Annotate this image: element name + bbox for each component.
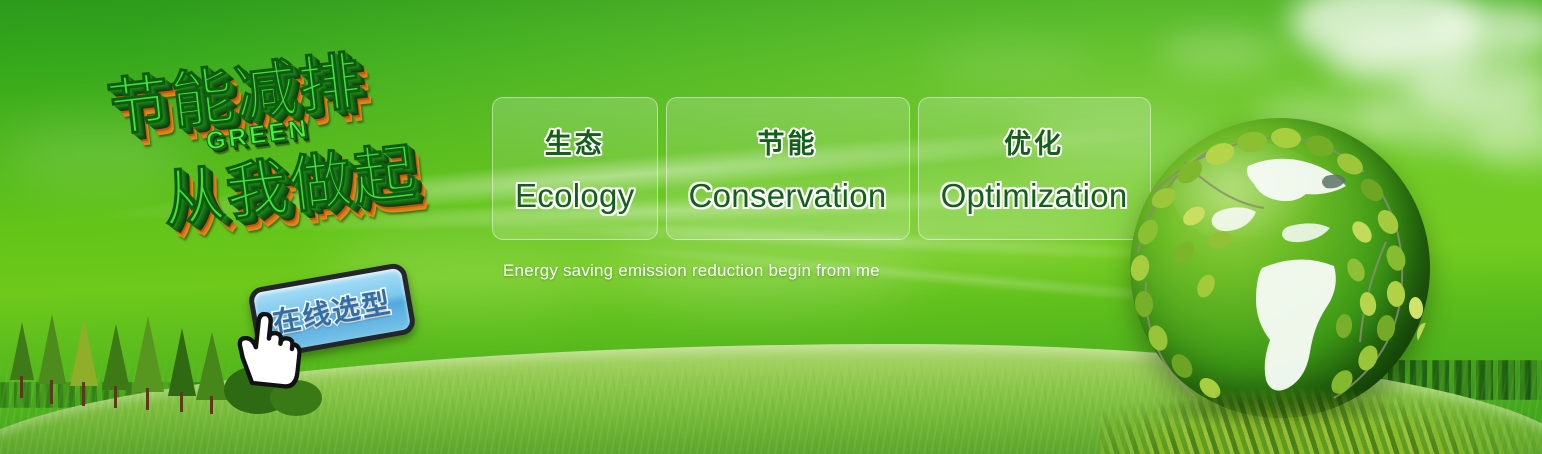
feature-card-title-cn: 优化 (1004, 122, 1064, 161)
cloud-icon (930, 40, 1090, 90)
feature-card-title-en: Conservation (689, 177, 887, 215)
cloud-icon (1290, 0, 1480, 65)
feature-card-title-en: Ecology (515, 177, 635, 215)
globe-highlight (1172, 142, 1328, 244)
cloud-icon (1330, 30, 1480, 90)
feature-card-title-cn: 节能 (758, 122, 818, 161)
feature-card-optimization[interactable]: 优化 Optimization (918, 97, 1151, 240)
cloud-icon (1408, 55, 1542, 115)
cloud-icon (1432, 5, 1542, 57)
feature-card-title-cn: 生态 (545, 122, 605, 161)
feature-card-conservation[interactable]: 节能 Conservation (666, 97, 910, 240)
feature-card-list: 生态 Ecology 节能 Conservation 优化 Optimizati… (492, 97, 1151, 240)
feature-card-ecology[interactable]: 生态 Ecology (492, 97, 658, 240)
cloud-icon (1470, 120, 1542, 168)
feature-card-title-en: Optimization (941, 177, 1128, 215)
online-selection-cta-wrapper: 在线选型 (247, 262, 417, 361)
headline-3d: 节能减排 GREEN 从我做起 (88, 17, 492, 289)
green-ivy-globe-icon (1130, 118, 1430, 418)
leaf-litter-icon (1100, 388, 1542, 454)
globe-sphere (1130, 118, 1430, 418)
banner-tagline: Energy saving emission reduction begin f… (503, 261, 880, 281)
cloud-icon (1160, 30, 1280, 74)
hand-pointer-cursor-icon (232, 309, 305, 389)
eco-promo-banner: 节能减排 GREEN 从我做起 在线选型 生态 Ecology 节能 Conse… (0, 0, 1542, 454)
